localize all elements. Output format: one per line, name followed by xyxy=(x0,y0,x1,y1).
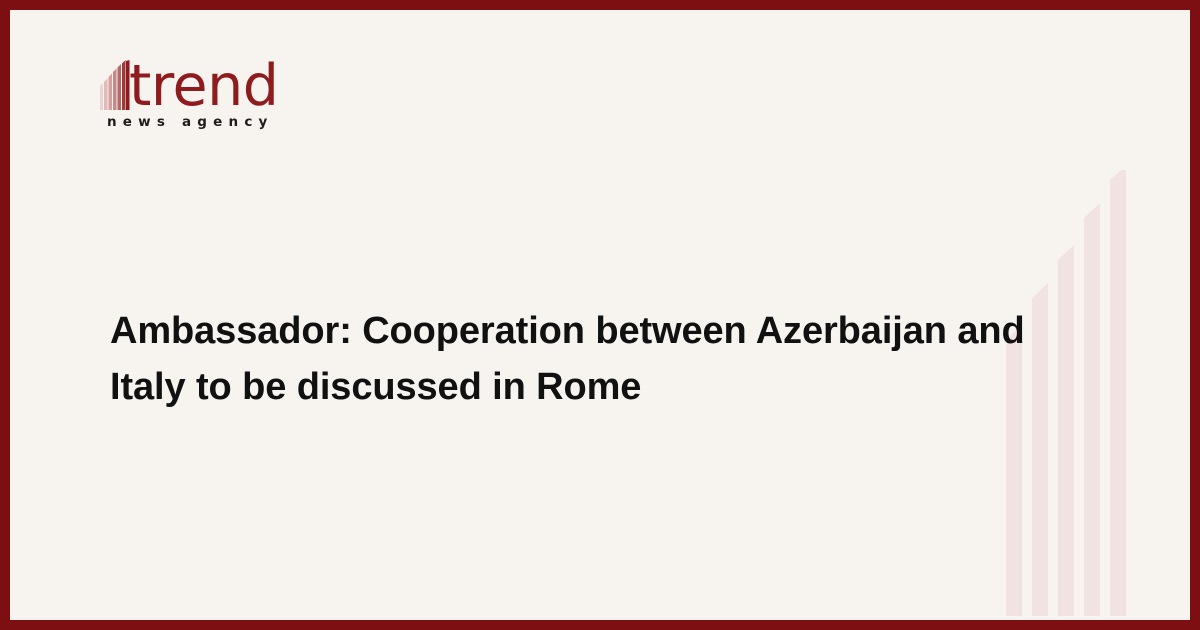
decor-bar-4 xyxy=(1084,203,1100,616)
decor-bar-5 xyxy=(1110,170,1126,616)
site-logo[interactable]: trend news agency xyxy=(100,50,360,130)
headline-line-1: Ambassador: Cooperation between Azerbaij… xyxy=(110,303,1040,359)
page-title: Ambassador: Cooperation between Azerbaij… xyxy=(110,303,1040,415)
decor-bar-3 xyxy=(1058,245,1074,616)
headline-line-2: Italy to be discussed in Rome xyxy=(110,359,1040,415)
logo-wordmark: trend xyxy=(129,60,278,112)
news-card: trend news agency Ambassador: Cooperatio… xyxy=(0,0,1200,630)
ascending-bars-icon xyxy=(100,60,130,110)
logo-row: trend xyxy=(100,50,360,112)
logo-tagline: news agency xyxy=(107,114,360,130)
